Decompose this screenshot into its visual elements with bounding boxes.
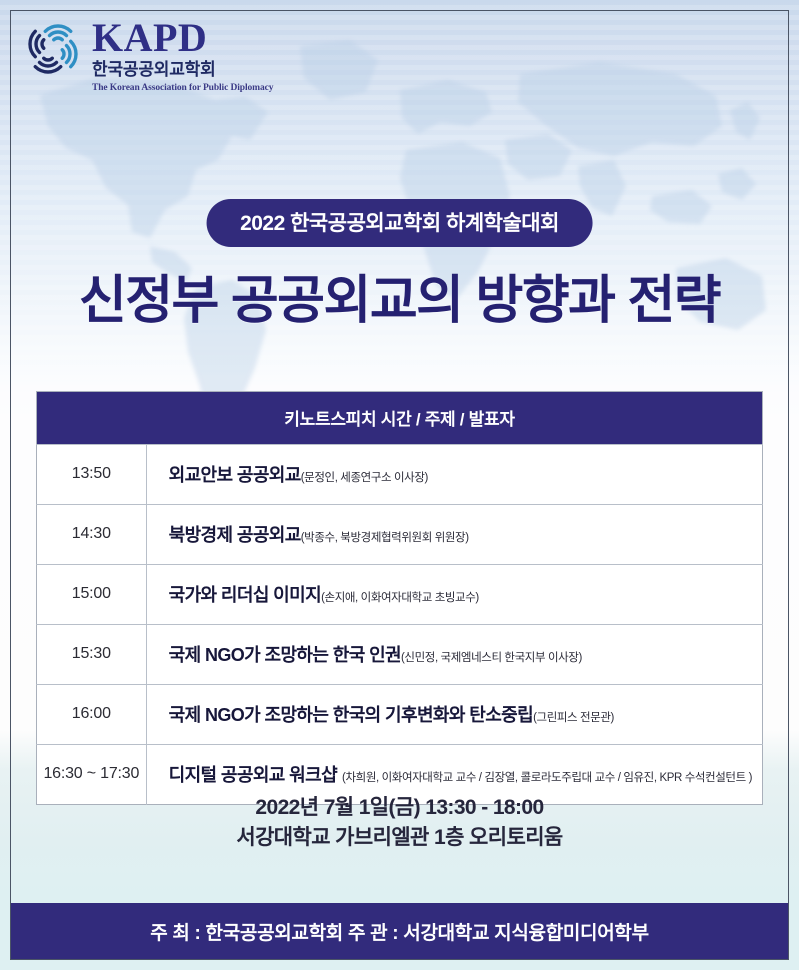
schedule-row-speaker: (문정인, 세종연구소 이사장) xyxy=(301,472,428,484)
organization-name-group: KAPD 한국공공외교학회 The Korean Association for… xyxy=(92,16,273,93)
schedule-row-time: 16:00 xyxy=(37,685,147,745)
schedule-row-topic: 국제 NGO가 조망하는 한국 인권 xyxy=(169,645,401,665)
schedule-row-speaker: (신민정, 국제엠네스티 한국지부 이사장) xyxy=(401,652,582,664)
schedule-table-body: 13:50외교안보 공공외교(문정인, 세종연구소 이사장)14:30북방경제 … xyxy=(37,445,763,805)
schedule-row-speaker: (박종수, 북방경제협력위원회 위원장) xyxy=(301,532,469,544)
organization-name-korean: 한국공공외교학회 xyxy=(92,61,273,80)
event-date: 2022년 7월 1일(금) 13:30 - 18:00 xyxy=(0,793,799,823)
schedule-row-topic-cell: 국가와 리더십 이미지(손지애, 이화여자대학교 초빙교수) xyxy=(146,565,762,625)
schedule-row: 14:30북방경제 공공외교(박종수, 북방경제협력위원회 위원장) xyxy=(37,505,763,565)
schedule-row-time: 15:30 xyxy=(37,625,147,685)
schedule-header-label: 키노트스피치 시간 / 주제 / 발표자 xyxy=(37,392,763,445)
conference-poster: KAPD 한국공공외교학회 The Korean Association for… xyxy=(0,0,799,970)
sponsor-bar: 주 최 : 한국공공외교학회 주 관 : 서강대학교 지식융합미디어학부 xyxy=(11,903,788,959)
organization-logo-block: KAPD 한국공공외교학회 The Korean Association for… xyxy=(22,16,273,93)
organization-name-english: The Korean Association for Public Diplom… xyxy=(92,83,273,93)
conference-badge: 2022 한국공공외교학회 하계학술대회 xyxy=(206,199,593,247)
organization-acronym: KAPD xyxy=(92,18,273,58)
radiating-waves-icon xyxy=(22,18,84,80)
schedule-row-time: 14:30 xyxy=(37,505,147,565)
keynote-schedule-table: 키노트스피치 시간 / 주제 / 발표자 13:50외교안보 공공외교(문정인,… xyxy=(36,391,763,805)
schedule-row-speaker: (손지애, 이화여자대학교 초빙교수) xyxy=(321,592,479,604)
schedule-row-speaker: (그린피스 전문관) xyxy=(533,712,614,724)
schedule-row-topic: 국제 NGO가 조망하는 한국의 기후변화와 탄소중립 xyxy=(169,705,533,725)
sponsor-bar-text: 주 최 : 한국공공외교학회 주 관 : 서강대학교 지식융합미디어학부 xyxy=(150,918,649,945)
schedule-row-topic-cell: 외교안보 공공외교(문정인, 세종연구소 이사장) xyxy=(146,445,762,505)
poster-headline: 신정부 공공외교의 방향과 전략 xyxy=(0,258,799,333)
schedule-row-topic: 외교안보 공공외교 xyxy=(169,465,301,485)
schedule-row: 16:00국제 NGO가 조망하는 한국의 기후변화와 탄소중립(그린피스 전문… xyxy=(37,685,763,745)
event-info-block: 2022년 7월 1일(금) 13:30 - 18:00 서강대학교 가브리엘관… xyxy=(0,793,799,854)
schedule-row: 15:00국가와 리더십 이미지(손지애, 이화여자대학교 초빙교수) xyxy=(37,565,763,625)
schedule-row-topic-cell: 북방경제 공공외교(박종수, 북방경제협력위원회 위원장) xyxy=(146,505,762,565)
schedule-row: 15:30국제 NGO가 조망하는 한국 인권(신민정, 국제엠네스티 한국지부… xyxy=(37,625,763,685)
schedule-table-head: 키노트스피치 시간 / 주제 / 발표자 xyxy=(37,392,763,445)
schedule-row-topic: 국가와 리더십 이미지 xyxy=(169,585,321,605)
schedule-row: 13:50외교안보 공공외교(문정인, 세종연구소 이사장) xyxy=(37,445,763,505)
schedule-row-speaker: (차희원, 이화여자대학교 교수 / 김장열, 콜로라도주립대 교수 / 임유진… xyxy=(342,772,752,784)
schedule-row-topic-cell: 국제 NGO가 조망하는 한국 인권(신민정, 국제엠네스티 한국지부 이사장) xyxy=(146,625,762,685)
schedule-row-time: 15:00 xyxy=(37,565,147,625)
schedule-row-topic-cell: 국제 NGO가 조망하는 한국의 기후변화와 탄소중립(그린피스 전문관) xyxy=(146,685,762,745)
schedule-row-topic: 북방경제 공공외교 xyxy=(169,525,301,545)
schedule-row-topic: 디지털 공공외교 워크샵 xyxy=(169,765,337,785)
schedule-header-row: 키노트스피치 시간 / 주제 / 발표자 xyxy=(37,392,763,445)
event-venue: 서강대학교 가브리엘관 1층 오리토리움 xyxy=(0,823,799,853)
schedule-row-time: 13:50 xyxy=(37,445,147,505)
